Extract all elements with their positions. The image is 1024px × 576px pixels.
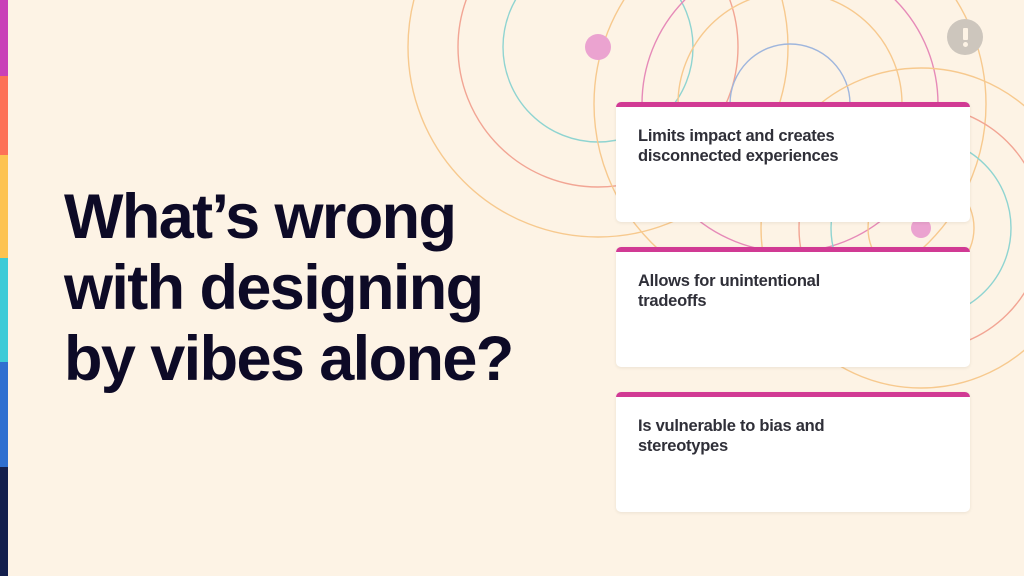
color-rail-segment-cyan xyxy=(0,258,8,362)
slide-canvas: What’s wrong with designing by vibes alo… xyxy=(0,0,1024,576)
exclamation-circle-icon[interactable] xyxy=(947,19,983,55)
color-rail-segment-magenta xyxy=(0,0,8,76)
exclamation-stem xyxy=(963,28,968,40)
consequence-card-limits-impact[interactable]: Limits impact and creates disconnected e… xyxy=(616,102,970,222)
color-rail-segment-coral xyxy=(0,76,8,155)
color-rail-segment-amber xyxy=(0,155,8,258)
consequence-card-bias-and-stereotypes[interactable]: Is vulnerable to bias and stereotypes xyxy=(616,392,970,512)
page-title: What’s wrong with designing by vibes alo… xyxy=(64,182,564,395)
card-text: Limits impact and creates disconnected e… xyxy=(638,126,948,166)
title-block: What’s wrong with designing by vibes alo… xyxy=(64,182,564,395)
card-text: Allows for unintentional tradeoffs xyxy=(638,271,948,311)
card-accent-bar xyxy=(616,392,970,397)
card-text: Is vulnerable to bias and stereotypes xyxy=(638,416,948,456)
left-color-rail xyxy=(0,0,8,576)
consequence-card-unintentional-tradeoffs[interactable]: Allows for unintentional tradeoffs xyxy=(616,247,970,367)
consequence-card-list: Limits impact and creates disconnected e… xyxy=(616,102,970,512)
card-accent-bar xyxy=(616,247,970,252)
card-accent-bar xyxy=(616,102,970,107)
color-rail-segment-blue xyxy=(0,362,8,467)
exclamation-dot xyxy=(963,42,968,47)
color-rail-segment-navy xyxy=(0,467,8,576)
